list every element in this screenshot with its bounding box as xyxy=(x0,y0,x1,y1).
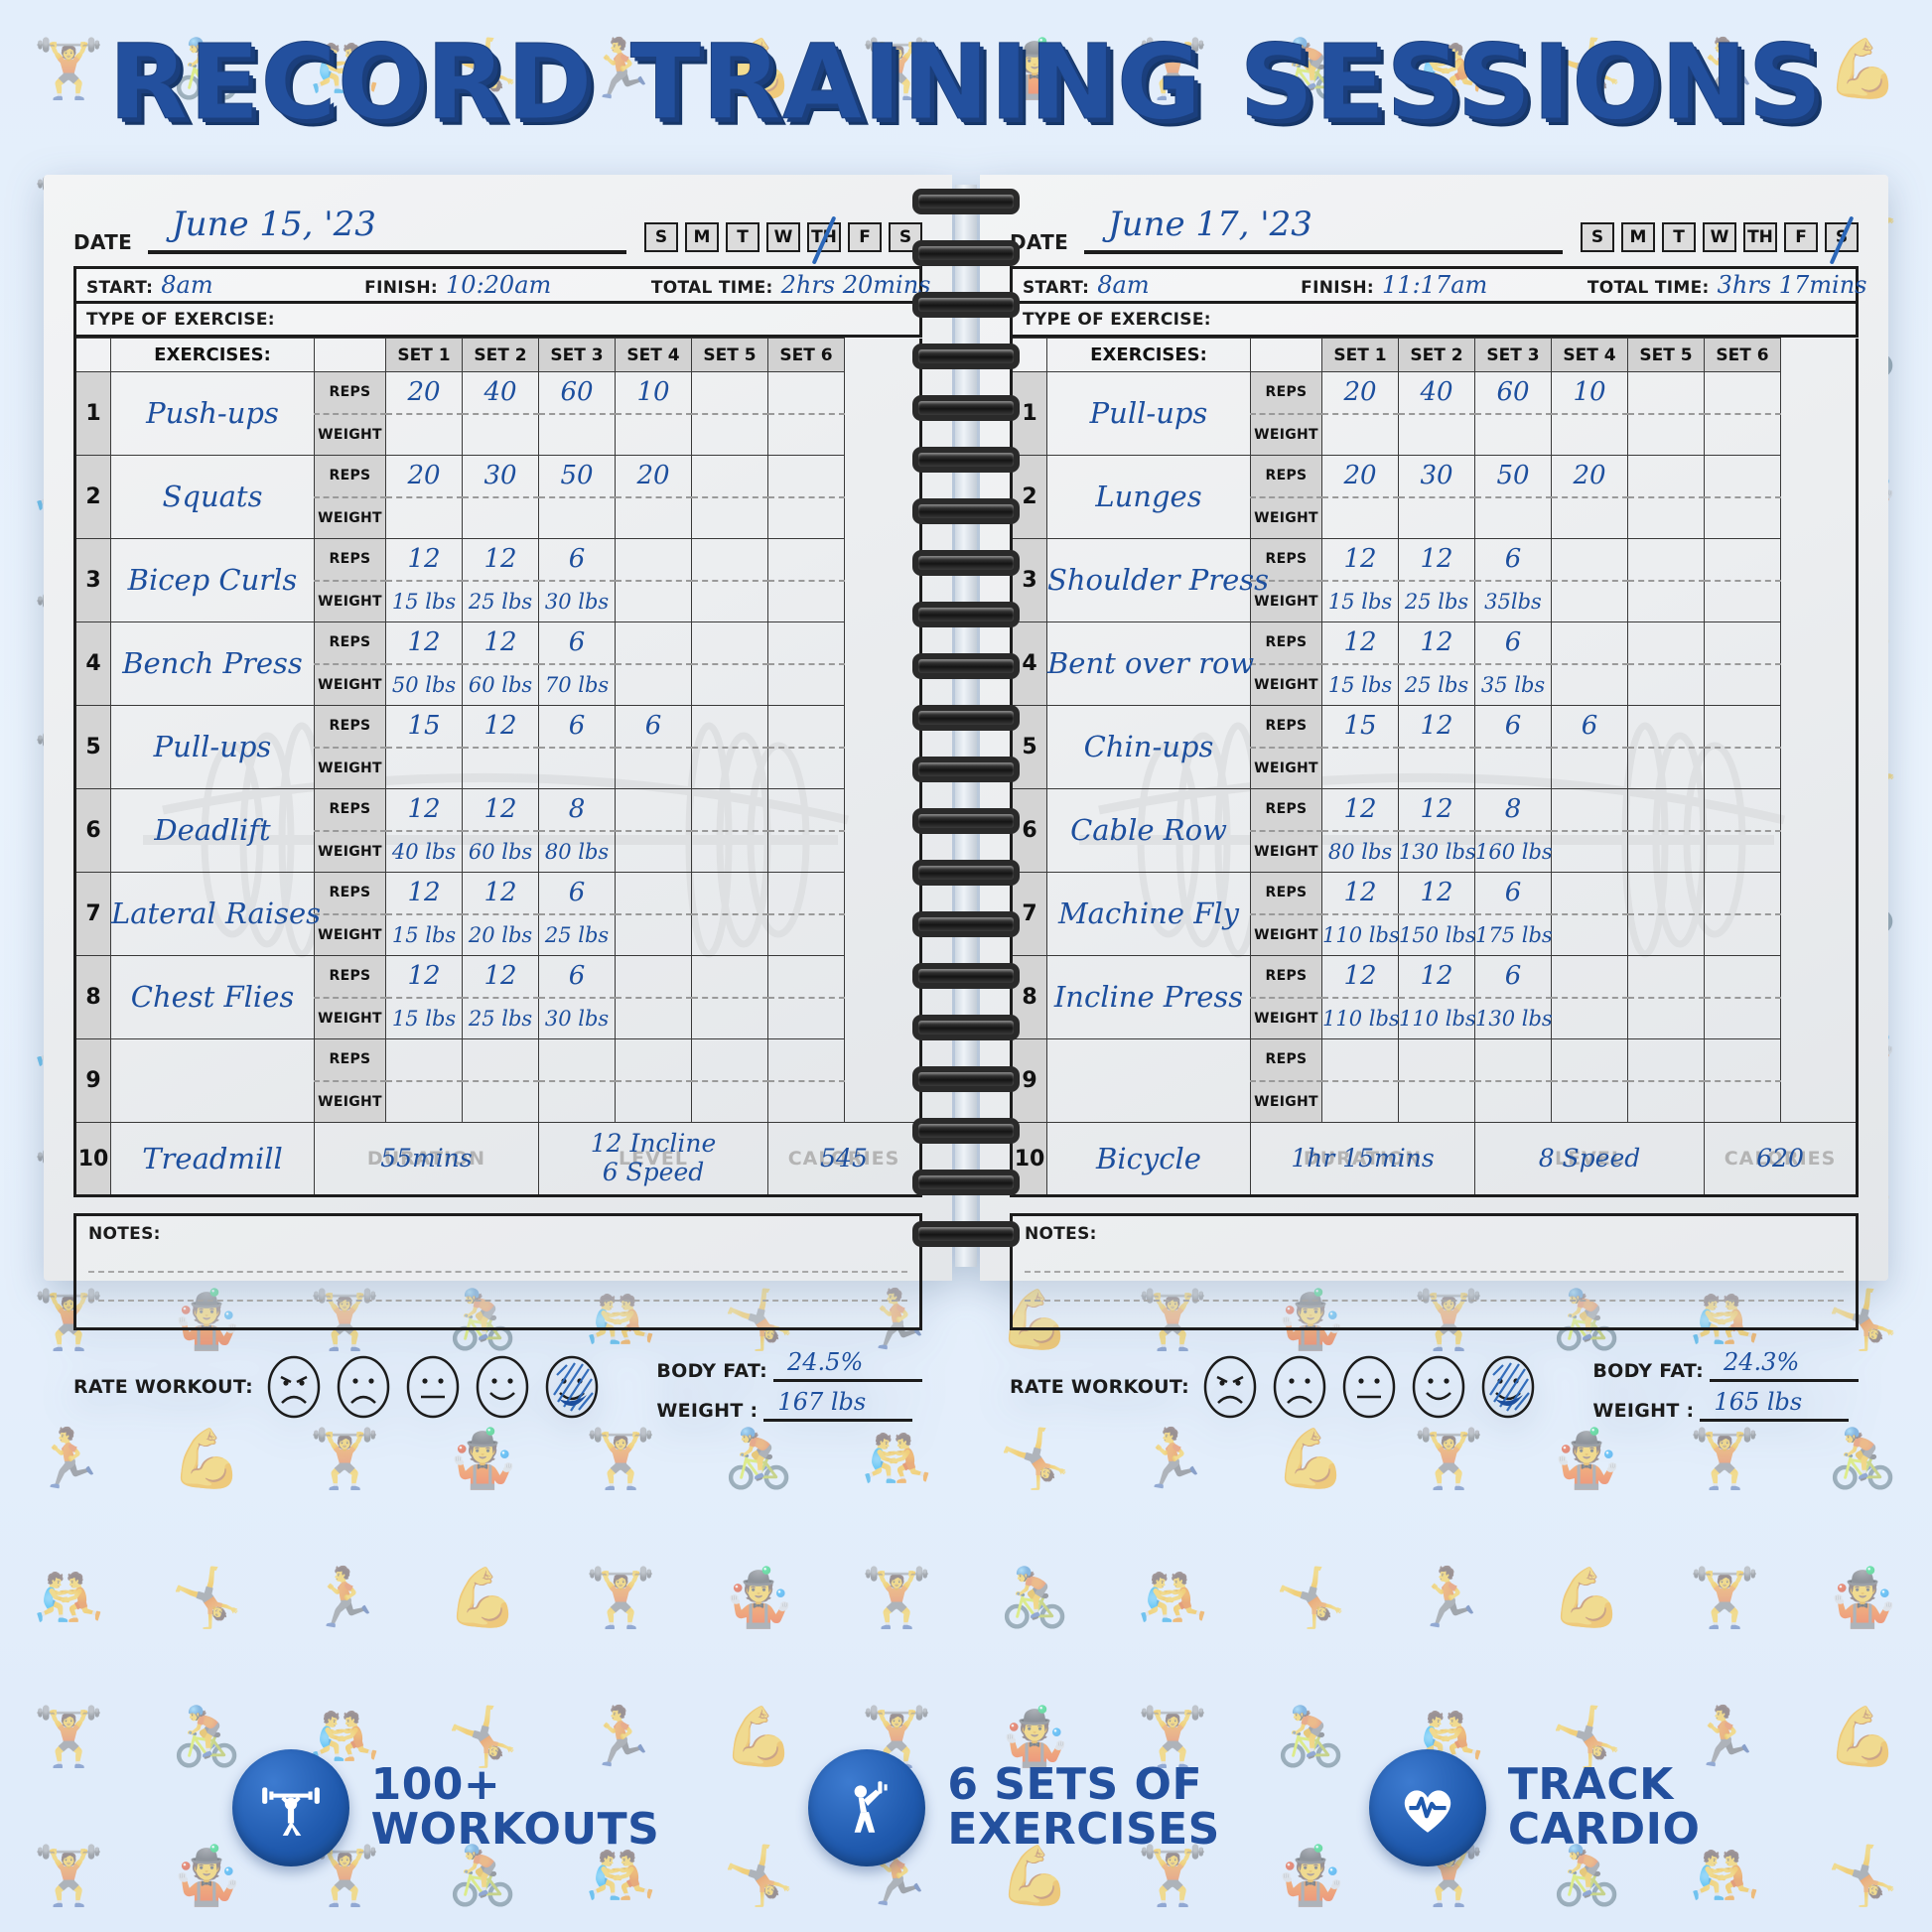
weight-cell[interactable] xyxy=(1552,581,1628,622)
weight-cell[interactable] xyxy=(1628,831,1705,873)
exercise-name-cell[interactable] xyxy=(111,1039,315,1123)
weight-cell[interactable] xyxy=(1552,664,1628,706)
weight-cell[interactable] xyxy=(463,497,539,539)
weight-cell[interactable]: 80 lbs xyxy=(1322,831,1399,873)
row-number: 3 xyxy=(75,539,111,622)
weight-cell[interactable] xyxy=(386,1081,463,1123)
reps-cell[interactable] xyxy=(1322,1039,1399,1081)
weight-cell[interactable]: 25 lbs xyxy=(463,581,539,622)
start-field[interactable]: START: 8am xyxy=(76,273,354,298)
weight-cell[interactable]: 25 lbs xyxy=(1399,664,1475,706)
reps-cell[interactable]: 6 xyxy=(1475,706,1552,748)
weight-cell[interactable]: 25 lbs xyxy=(539,914,616,956)
weight-cell[interactable] xyxy=(616,998,692,1039)
reps-cell[interactable] xyxy=(1552,539,1628,581)
weight-cell[interactable] xyxy=(1475,1081,1552,1123)
reps-cell[interactable] xyxy=(768,706,845,748)
weight-cell[interactable]: 60 lbs xyxy=(463,831,539,873)
reps-cell[interactable] xyxy=(1552,622,1628,664)
exercise-name-cell[interactable]: Pull-ups xyxy=(111,706,315,789)
exercise-name-cell[interactable]: Lateral Raises xyxy=(111,873,315,956)
reps-cell[interactable]: 20 xyxy=(386,456,463,497)
weight-cell[interactable] xyxy=(616,1081,692,1123)
reps-cell[interactable]: 10 xyxy=(1552,372,1628,414)
weight-cell[interactable] xyxy=(768,497,845,539)
weight-cell[interactable]: 160 lbs xyxy=(1475,831,1552,873)
day-checkbox-s-0[interactable]: S xyxy=(1581,222,1614,252)
rating-face-2[interactable] xyxy=(337,1355,390,1419)
cardio-calories-cell[interactable]: CALORIES 545 xyxy=(768,1123,921,1196)
reps-cell[interactable] xyxy=(768,956,845,998)
reps-cell[interactable]: 40 xyxy=(1399,372,1475,414)
reps-cell[interactable]: 12 xyxy=(1399,622,1475,664)
day-checkbox-s-6[interactable]: S xyxy=(1825,222,1859,252)
header-exercises: EXERCISES: xyxy=(111,339,315,372)
reps-cell[interactable] xyxy=(1628,789,1705,831)
weight-cell[interactable] xyxy=(1705,497,1781,539)
reps-cell[interactable]: 15 xyxy=(1322,706,1399,748)
reps-cell[interactable]: 12 xyxy=(386,539,463,581)
weight-cell[interactable] xyxy=(1628,1081,1705,1123)
weight-cell[interactable] xyxy=(692,998,768,1039)
weight-cell[interactable] xyxy=(386,497,463,539)
day-checkbox-f-5[interactable]: F xyxy=(848,222,882,252)
reps-cell[interactable] xyxy=(768,539,845,581)
start-value: 8am xyxy=(1097,273,1149,297)
day-checkbox-t-2[interactable]: T xyxy=(1662,222,1696,252)
reps-cell[interactable]: 30 xyxy=(1399,456,1475,497)
total-time-field[interactable]: TOTAL TIME: 3hrs 17mins xyxy=(1578,273,1856,298)
weight-cell[interactable] xyxy=(539,748,616,789)
exercise-name-cell[interactable]: Bent over row xyxy=(1047,622,1251,706)
weight-cell[interactable]: 175 lbs xyxy=(1475,914,1552,956)
weight-cell[interactable]: 130 lbs xyxy=(1399,831,1475,873)
weight-cell[interactable] xyxy=(692,664,768,706)
reps-cell[interactable]: 12 xyxy=(1399,706,1475,748)
reps-cell[interactable]: 12 xyxy=(463,622,539,664)
reps-cell[interactable] xyxy=(692,873,768,914)
notes-section[interactable]: NOTES: xyxy=(73,1213,922,1330)
weight-cell[interactable]: 80 lbs xyxy=(539,831,616,873)
rating-face-1[interactable] xyxy=(267,1355,321,1419)
reps-cell[interactable]: 12 xyxy=(1322,539,1399,581)
spiral-ring xyxy=(912,1015,1020,1040)
notes-line[interactable] xyxy=(1025,1244,1844,1273)
reps-cell[interactable] xyxy=(692,372,768,414)
reps-cell[interactable] xyxy=(1552,956,1628,998)
reps-cell[interactable] xyxy=(1705,956,1781,998)
day-checkbox-f-5[interactable]: F xyxy=(1784,222,1818,252)
reps-cell[interactable] xyxy=(616,1039,692,1081)
weight-cell[interactable]: 15 lbs xyxy=(386,998,463,1039)
weight-field[interactable]: WEIGHT : 165 lbs xyxy=(1592,1392,1859,1422)
weight-cell[interactable] xyxy=(1399,748,1475,789)
reps-cell[interactable] xyxy=(768,456,845,497)
reps-cell[interactable]: 12 xyxy=(386,622,463,664)
reps-cell[interactable]: 6 xyxy=(1475,622,1552,664)
weight-cell[interactable] xyxy=(386,748,463,789)
reps-cell[interactable]: 6 xyxy=(539,539,616,581)
weight-cell[interactable] xyxy=(1322,497,1399,539)
reps-cell[interactable] xyxy=(1552,873,1628,914)
rating-face-4[interactable] xyxy=(1412,1355,1465,1419)
reps-cell[interactable]: 12 xyxy=(386,873,463,914)
weight-cell[interactable] xyxy=(539,1081,616,1123)
reps-cell[interactable] xyxy=(768,789,845,831)
reps-cell[interactable]: 12 xyxy=(463,873,539,914)
rating-face-4[interactable] xyxy=(476,1355,529,1419)
reps-cell[interactable] xyxy=(1399,1039,1475,1081)
exercise-name-cell[interactable]: Lunges xyxy=(1047,456,1251,539)
reps-cell[interactable] xyxy=(1628,622,1705,664)
date-input[interactable]: June 17, '23 xyxy=(1084,210,1563,254)
reps-cell[interactable]: 8 xyxy=(1475,789,1552,831)
weight-cell[interactable] xyxy=(616,581,692,622)
weight-cell[interactable] xyxy=(1552,497,1628,539)
reps-cell[interactable]: 6 xyxy=(1475,873,1552,914)
reps-cell[interactable]: 12 xyxy=(463,539,539,581)
cardio-level-cell[interactable]: LEVEL 8 Speed xyxy=(1475,1123,1705,1196)
reps-cell[interactable]: 50 xyxy=(1475,456,1552,497)
exercise-name-cell[interactable]: Bicep Curls xyxy=(111,539,315,622)
spiral-ring xyxy=(912,1221,1020,1247)
weight-cell[interactable] xyxy=(692,748,768,789)
weight-cell[interactable]: 25 lbs xyxy=(1399,581,1475,622)
weight-cell[interactable] xyxy=(539,414,616,456)
reps-cell[interactable] xyxy=(1705,706,1781,748)
reps-cell[interactable]: 12 xyxy=(1399,873,1475,914)
weight-cell[interactable]: 15 lbs xyxy=(1322,664,1399,706)
reps-cell[interactable] xyxy=(539,1039,616,1081)
body-fat-value: 24.5% xyxy=(787,1348,863,1376)
weight-cell[interactable] xyxy=(692,1081,768,1123)
reps-cell[interactable]: 6 xyxy=(1552,706,1628,748)
day-checkbox-m-1[interactable]: M xyxy=(685,222,719,252)
weight-cell[interactable] xyxy=(616,914,692,956)
weight-cell[interactable]: 15 lbs xyxy=(386,914,463,956)
weight-cell[interactable]: 35 lbs xyxy=(1475,664,1552,706)
weight-cell[interactable] xyxy=(1552,1081,1628,1123)
weight-cell[interactable]: 130 lbs xyxy=(1475,998,1552,1039)
weight-cell[interactable] xyxy=(386,414,463,456)
exercise-name-cell[interactable]: Shoulder Press xyxy=(1047,539,1251,622)
reps-cell[interactable] xyxy=(692,956,768,998)
weight-cell[interactable] xyxy=(1475,748,1552,789)
rating-face-2[interactable] xyxy=(1273,1355,1326,1419)
weight-cell[interactable] xyxy=(1628,414,1705,456)
weight-cell[interactable]: 50 lbs xyxy=(386,664,463,706)
reps-cell[interactable]: 20 xyxy=(1322,372,1399,414)
reps-cell[interactable] xyxy=(1705,622,1781,664)
reps-cell[interactable] xyxy=(616,873,692,914)
exercise-name-cell[interactable]: Push-ups xyxy=(111,372,315,456)
cardio-duration-cell[interactable]: DURATION 1hr 15mins xyxy=(1251,1123,1475,1196)
rating-face-3[interactable] xyxy=(406,1355,460,1419)
weight-cell[interactable] xyxy=(768,664,845,706)
reps-cell[interactable] xyxy=(692,622,768,664)
reps-cell[interactable] xyxy=(616,539,692,581)
reps-cell[interactable] xyxy=(768,622,845,664)
weight-cell[interactable] xyxy=(768,748,845,789)
reps-cell[interactable] xyxy=(1705,873,1781,914)
reps-cell[interactable] xyxy=(1628,372,1705,414)
cardio-name-cell[interactable]: Treadmill xyxy=(111,1123,315,1196)
reps-cell[interactable] xyxy=(692,789,768,831)
notes-line[interactable] xyxy=(88,1244,907,1273)
cardio-level-cell[interactable]: LEVEL 12 Incline6 Speed xyxy=(539,1123,768,1196)
day-checkbox-s-0[interactable]: S xyxy=(644,222,678,252)
weight-cell[interactable] xyxy=(692,914,768,956)
weight-cell[interactable]: 110 lbs xyxy=(1322,914,1399,956)
footer-row: RATE WORKOUT: BODY FAT: 24.3% WEIGHT : 1… xyxy=(1010,1352,1859,1422)
weight-cell[interactable] xyxy=(1475,414,1552,456)
notes-line[interactable] xyxy=(88,1273,907,1302)
reps-cell[interactable] xyxy=(692,706,768,748)
weight-label: WEIGHT xyxy=(1251,1081,1322,1123)
reps-cell[interactable] xyxy=(1705,1039,1781,1081)
reps-cell[interactable] xyxy=(1628,1039,1705,1081)
weight-cell[interactable] xyxy=(1628,497,1705,539)
reps-cell[interactable]: 20 xyxy=(1552,456,1628,497)
weight-cell[interactable]: 15 lbs xyxy=(1322,581,1399,622)
day-checkbox-w-3[interactable]: W xyxy=(766,222,800,252)
weight-cell[interactable] xyxy=(768,414,845,456)
weight-cell[interactable] xyxy=(768,581,845,622)
cardio-calories-cell[interactable]: CALORIES 620 xyxy=(1705,1123,1858,1196)
weight-cell[interactable] xyxy=(1705,581,1781,622)
day-checkbox-th-4[interactable]: TH xyxy=(807,222,841,252)
day-checkbox-m-1[interactable]: M xyxy=(1621,222,1655,252)
weight-cell[interactable] xyxy=(1322,748,1399,789)
reps-cell[interactable]: 40 xyxy=(463,372,539,414)
weight-field[interactable]: WEIGHT : 167 lbs xyxy=(656,1392,922,1422)
reps-cell[interactable] xyxy=(692,1039,768,1081)
weight-cell[interactable] xyxy=(1552,914,1628,956)
exercise-name-cell[interactable]: Chest Flies xyxy=(111,956,315,1039)
reps-cell[interactable]: 12 xyxy=(463,789,539,831)
reps-cell[interactable] xyxy=(1705,539,1781,581)
finish-field[interactable]: FINISH: 10:20am xyxy=(354,273,641,298)
right-page: DATE June 17, '23 SMTWTHFS START: 8am FI… xyxy=(980,175,1888,1281)
reps-cell[interactable] xyxy=(1628,873,1705,914)
weight-cell[interactable] xyxy=(1322,1081,1399,1123)
weight-cell[interactable] xyxy=(1705,998,1781,1039)
weight-cell[interactable] xyxy=(1628,998,1705,1039)
reps-cell[interactable]: 60 xyxy=(1475,372,1552,414)
reps-cell[interactable] xyxy=(1705,372,1781,414)
weight-cell[interactable] xyxy=(616,414,692,456)
exercise-name-cell[interactable] xyxy=(1047,1039,1251,1123)
reps-cell[interactable] xyxy=(616,622,692,664)
day-checkbox-t-2[interactable]: T xyxy=(726,222,759,252)
weight-cell[interactable] xyxy=(463,1081,539,1123)
reps-cell[interactable]: 6 xyxy=(1475,539,1552,581)
weight-cell[interactable] xyxy=(1399,497,1475,539)
exercise-name-cell[interactable]: Squats xyxy=(111,456,315,539)
reps-cell[interactable] xyxy=(1628,706,1705,748)
reps-cell[interactable]: 12 xyxy=(1399,789,1475,831)
weight-cell[interactable] xyxy=(768,914,845,956)
weight-label: WEIGHT xyxy=(1251,998,1322,1039)
cardio-name-cell[interactable]: Bicycle xyxy=(1047,1123,1251,1196)
reps-cell[interactable]: 20 xyxy=(616,456,692,497)
weight-cell[interactable] xyxy=(692,497,768,539)
reps-cell[interactable] xyxy=(1552,789,1628,831)
reps-cell[interactable]: 12 xyxy=(1322,622,1399,664)
reps-cell[interactable]: 12 xyxy=(1322,956,1399,998)
weight-cell[interactable] xyxy=(1399,414,1475,456)
reps-cell[interactable]: 10 xyxy=(616,372,692,414)
reps-cell[interactable]: 6 xyxy=(539,706,616,748)
weight-cell[interactable] xyxy=(1705,914,1781,956)
row-number: 4 xyxy=(75,622,111,706)
reps-cell[interactable]: 12 xyxy=(1399,539,1475,581)
rating-face-5[interactable] xyxy=(545,1355,599,1419)
exercise-name-cell[interactable]: Cable Row xyxy=(1047,789,1251,873)
reps-cell[interactable] xyxy=(768,873,845,914)
weight-cell[interactable] xyxy=(1475,497,1552,539)
rating-faces xyxy=(1203,1355,1535,1419)
weight-cell[interactable] xyxy=(1705,1081,1781,1123)
weight-cell[interactable]: 60 lbs xyxy=(463,664,539,706)
reps-label: REPS xyxy=(1251,873,1322,914)
rating-face-3[interactable] xyxy=(1342,1355,1396,1419)
reps-cell[interactable] xyxy=(692,456,768,497)
weight-cell[interactable] xyxy=(616,831,692,873)
cardio-duration-cell[interactable]: DURATION 55mins xyxy=(315,1123,539,1196)
reps-cell[interactable] xyxy=(616,789,692,831)
reps-cell[interactable] xyxy=(1552,1039,1628,1081)
weight-cell[interactable]: 25 lbs xyxy=(463,998,539,1039)
type-of-exercise-field[interactable]: TYPE OF EXERCISE: xyxy=(1010,304,1859,338)
reps-cell[interactable]: 12 xyxy=(463,956,539,998)
notes-line[interactable] xyxy=(1025,1273,1844,1302)
weight-cell[interactable]: 110 lbs xyxy=(1399,998,1475,1039)
weight-cell[interactable] xyxy=(616,664,692,706)
weight-cell[interactable] xyxy=(1628,748,1705,789)
weight-cell[interactable] xyxy=(1399,1081,1475,1123)
reps-cell[interactable] xyxy=(463,1039,539,1081)
exercise-name-cell[interactable]: Incline Press xyxy=(1047,956,1251,1039)
finish-field[interactable]: FINISH: 11:17am xyxy=(1291,273,1578,298)
reps-cell[interactable]: 12 xyxy=(386,956,463,998)
body-fat-field[interactable]: BODY FAT: 24.5% xyxy=(656,1352,922,1382)
weight-cell[interactable] xyxy=(1322,414,1399,456)
weight-cell[interactable] xyxy=(1628,914,1705,956)
weight-cell[interactable] xyxy=(1705,664,1781,706)
weight-cell[interactable] xyxy=(1552,998,1628,1039)
weight-cell[interactable]: 30 lbs xyxy=(539,998,616,1039)
reps-cell[interactable] xyxy=(1705,456,1781,497)
weight-cell[interactable]: 40 lbs xyxy=(386,831,463,873)
reps-cell[interactable] xyxy=(768,372,845,414)
weight-label: WEIGHT xyxy=(1251,414,1322,456)
reps-cell[interactable] xyxy=(1628,539,1705,581)
weight-cell[interactable] xyxy=(616,748,692,789)
day-checkbox-w-3[interactable]: W xyxy=(1703,222,1736,252)
reps-cell[interactable] xyxy=(1475,1039,1552,1081)
reps-cell[interactable] xyxy=(1628,956,1705,998)
reps-cell[interactable]: 6 xyxy=(1475,956,1552,998)
weight-label: WEIGHT xyxy=(315,664,386,706)
reps-cell[interactable]: 50 xyxy=(539,456,616,497)
reps-cell[interactable]: 20 xyxy=(1322,456,1399,497)
start-field[interactable]: START: 8am xyxy=(1013,273,1291,298)
weight-cell[interactable]: 110 lbs xyxy=(1322,998,1399,1039)
weight-cell[interactable] xyxy=(1552,748,1628,789)
weight-cell[interactable] xyxy=(1628,664,1705,706)
reps-cell[interactable]: 30 xyxy=(463,456,539,497)
weight-cell[interactable]: 15 lbs xyxy=(386,581,463,622)
reps-cell[interactable]: 15 xyxy=(386,706,463,748)
reps-cell[interactable]: 6 xyxy=(539,956,616,998)
weight-cell[interactable]: 35lbs xyxy=(1475,581,1552,622)
reps-cell[interactable]: 6 xyxy=(616,706,692,748)
weight-cell[interactable] xyxy=(1705,831,1781,873)
reps-cell[interactable] xyxy=(386,1039,463,1081)
rating-face-1[interactable] xyxy=(1203,1355,1257,1419)
weight-cell[interactable]: 150 lbs xyxy=(1399,914,1475,956)
reps-cell[interactable] xyxy=(692,539,768,581)
reps-cell[interactable] xyxy=(1628,456,1705,497)
date-input[interactable]: June 15, '23 xyxy=(148,210,626,254)
exercise-name-cell[interactable]: Deadlift xyxy=(111,789,315,873)
exercise-name-cell[interactable]: Chin-ups xyxy=(1047,706,1251,789)
weight-cell[interactable] xyxy=(1552,831,1628,873)
reps-cell[interactable]: 12 xyxy=(1399,956,1475,998)
reps-cell[interactable]: 20 xyxy=(386,372,463,414)
notes-section[interactable]: NOTES: xyxy=(1010,1213,1859,1330)
weight-cell[interactable] xyxy=(1705,748,1781,789)
weight-cell[interactable]: 70 lbs xyxy=(539,664,616,706)
reps-cell[interactable]: 12 xyxy=(1322,789,1399,831)
reps-cell[interactable]: 6 xyxy=(539,873,616,914)
reps-cell[interactable]: 12 xyxy=(463,706,539,748)
reps-cell[interactable]: 12 xyxy=(386,789,463,831)
type-of-exercise-field[interactable]: TYPE OF EXERCISE: xyxy=(73,304,922,338)
rating-face-5[interactable] xyxy=(1481,1355,1535,1419)
weight-cell[interactable] xyxy=(463,748,539,789)
body-fat-field[interactable]: BODY FAT: 24.3% xyxy=(1592,1352,1859,1382)
weight-cell[interactable] xyxy=(768,998,845,1039)
reps-cell[interactable]: 6 xyxy=(539,622,616,664)
total-time-field[interactable]: TOTAL TIME: 2hrs 20mins xyxy=(641,273,919,298)
weight-cell[interactable] xyxy=(692,414,768,456)
reps-cell[interactable]: 60 xyxy=(539,372,616,414)
weight-cell[interactable] xyxy=(768,1081,845,1123)
exercise-name-cell[interactable]: Machine Fly xyxy=(1047,873,1251,956)
weight-cell[interactable]: 20 lbs xyxy=(463,914,539,956)
weight-cell[interactable] xyxy=(463,414,539,456)
exercise-name-cell[interactable]: Pull-ups xyxy=(1047,372,1251,456)
weight-cell[interactable] xyxy=(692,831,768,873)
weight-cell[interactable] xyxy=(692,581,768,622)
reps-cell[interactable]: 8 xyxy=(539,789,616,831)
weight-cell[interactable] xyxy=(1552,414,1628,456)
exercise-name-cell[interactable]: Bench Press xyxy=(111,622,315,706)
weight-cell[interactable]: 30 lbs xyxy=(539,581,616,622)
weight-cell[interactable] xyxy=(768,831,845,873)
weight-cell[interactable] xyxy=(539,497,616,539)
reps-cell[interactable] xyxy=(768,1039,845,1081)
reps-cell[interactable]: 12 xyxy=(1322,873,1399,914)
weight-cell[interactable] xyxy=(616,497,692,539)
weight-cell[interactable] xyxy=(1705,414,1781,456)
weight-cell[interactable] xyxy=(1628,581,1705,622)
day-checkbox-th-4[interactable]: TH xyxy=(1743,222,1777,252)
reps-cell[interactable] xyxy=(616,956,692,998)
reps-cell[interactable] xyxy=(1705,789,1781,831)
